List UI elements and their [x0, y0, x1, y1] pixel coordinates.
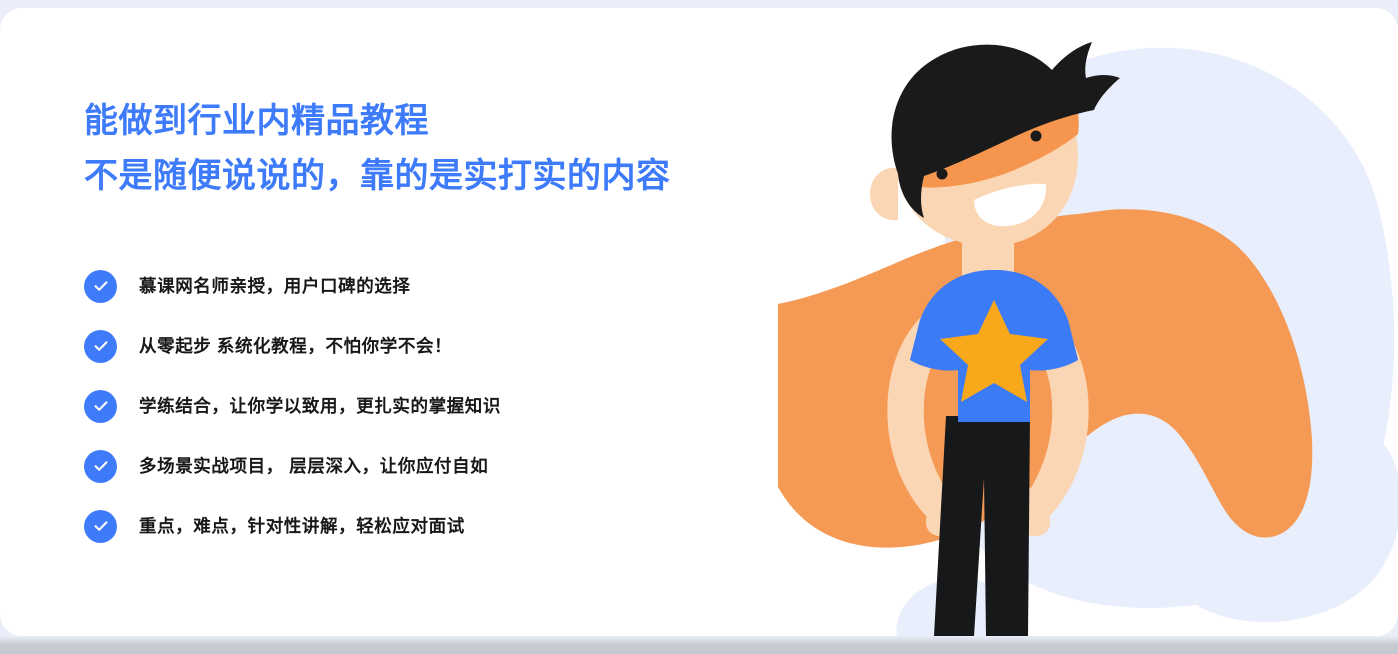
list-item-label: 多场景实战项目， 层层深入，让你应付自如	[139, 454, 488, 479]
list-item: 慕课网名师亲授，用户口碑的选择	[84, 256, 824, 316]
promo-banner-page: 能做到行业内精品教程 不是随便说说的，靠的是实打实的内容 慕课网名师亲授，用户口…	[0, 0, 1398, 654]
check-icon	[84, 510, 117, 543]
list-item: 多场景实战项目， 层层深入，让你应付自如	[84, 436, 824, 496]
superhero-character-illustration	[778, 8, 1398, 636]
list-item-label: 慕课网名师亲授，用户口碑的选择	[139, 274, 411, 299]
check-icon	[84, 390, 117, 423]
check-icon	[84, 330, 117, 363]
headline-line-1: 能做到行业内精品教程	[84, 94, 824, 149]
promo-content: 能做到行业内精品教程 不是随便说说的，靠的是实打实的内容 慕课网名师亲授，用户口…	[84, 94, 824, 556]
check-icon	[84, 450, 117, 483]
page-title: 能做到行业内精品教程 不是随便说说的，靠的是实打实的内容	[84, 94, 824, 204]
feature-list: 慕课网名师亲授，用户口碑的选择 从零起步 系统化教程，不怕你学不会！	[84, 256, 824, 556]
list-item-label: 从零起步 系统化教程，不怕你学不会！	[139, 334, 452, 359]
card-bottom-shadow	[0, 636, 1398, 654]
list-item: 重点，难点，针对性讲解，轻松应对面试	[84, 496, 824, 556]
eye-right	[1031, 131, 1042, 142]
promo-card: 能做到行业内精品教程 不是随便说说的，靠的是实打实的内容 慕课网名师亲授，用户口…	[0, 8, 1398, 636]
headline-line-2: 不是随便说说的，靠的是实打实的内容	[84, 149, 824, 204]
list-item-label: 学练结合，让你学以致用，更扎实的掌握知识	[139, 394, 501, 419]
list-item: 从零起步 系统化教程，不怕你学不会！	[84, 316, 824, 376]
check-icon	[84, 270, 117, 303]
ear	[870, 168, 898, 220]
list-item-label: 重点，难点，针对性讲解，轻松应对面试	[139, 514, 465, 539]
list-item: 学练结合，让你学以致用，更扎实的掌握知识	[84, 376, 824, 436]
